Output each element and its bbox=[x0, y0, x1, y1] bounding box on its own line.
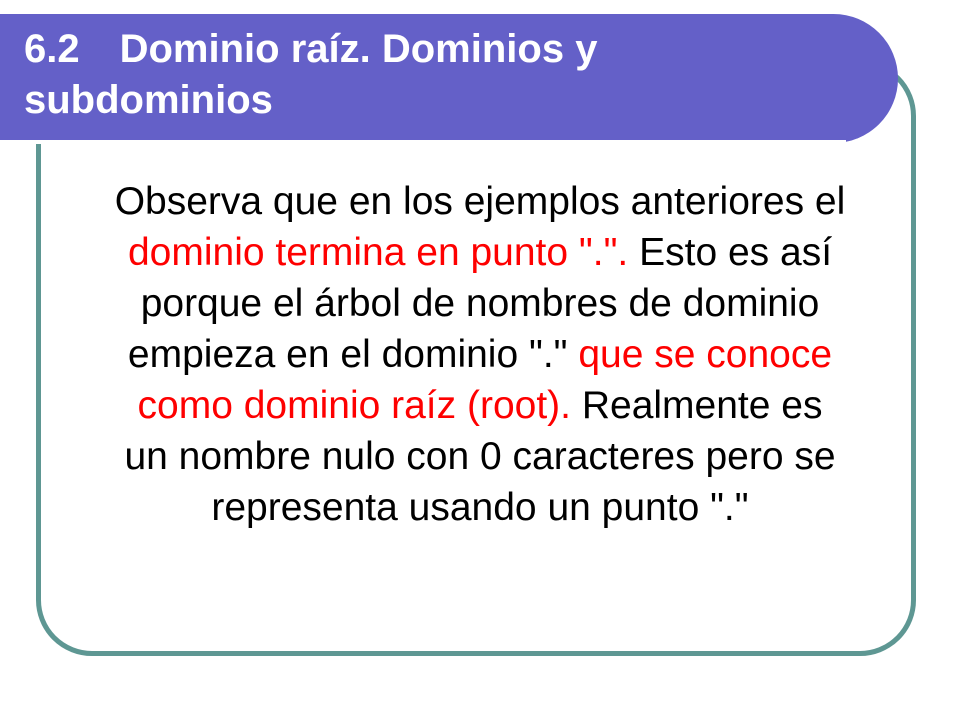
body-run-2-2: Esto es así bbox=[628, 231, 832, 274]
title-banner: 6.2Dominio raíz. Dominios ysubdominios bbox=[0, 14, 898, 143]
body-run-4-2: que se conoce bbox=[578, 333, 832, 376]
slide-body: Observa que en los ejemplos anteriores e… bbox=[62, 176, 898, 533]
body-run-1-1: Observa que en los ejemplos anteriores e… bbox=[115, 180, 846, 223]
title-number: 6.2 bbox=[24, 27, 80, 71]
body-line-6: un nombre nulo con 0 caracteres pero se bbox=[62, 431, 898, 482]
body-run-2-1: dominio termina en punto ".". bbox=[128, 231, 628, 274]
body-run-5-1: como dominio raíz (root). bbox=[138, 384, 571, 427]
body-run-5-2: Realmente es bbox=[571, 384, 822, 427]
title-line1: Dominio raíz. Dominios y bbox=[120, 27, 598, 71]
slide-title: 6.2Dominio raíz. Dominios ysubdominios bbox=[24, 24, 864, 126]
body-line-2: dominio termina en punto ".". Esto es as… bbox=[62, 227, 898, 278]
title-line2: subdominios bbox=[24, 78, 273, 122]
body-line-5: como dominio raíz (root). Realmente es bbox=[62, 380, 898, 431]
body-line-4: empieza en el dominio "." que se conoce bbox=[62, 329, 898, 380]
body-line-3: porque el árbol de nombres de dominio bbox=[62, 278, 898, 329]
body-run-3-1: porque el árbol de nombres de dominio bbox=[141, 282, 820, 325]
body-line-7: representa usando un punto "." bbox=[62, 482, 898, 533]
title-underline-rule bbox=[0, 140, 846, 144]
slide: 6.2Dominio raíz. Dominios ysubdominios O… bbox=[0, 0, 960, 720]
body-run-4-1: empieza en el dominio "." bbox=[128, 333, 578, 376]
body-line-1: Observa que en los ejemplos anteriores e… bbox=[62, 176, 898, 227]
body-run-6-1: un nombre nulo con 0 caracteres pero se bbox=[124, 435, 835, 478]
body-run-7-1: representa usando un punto "." bbox=[211, 486, 748, 529]
